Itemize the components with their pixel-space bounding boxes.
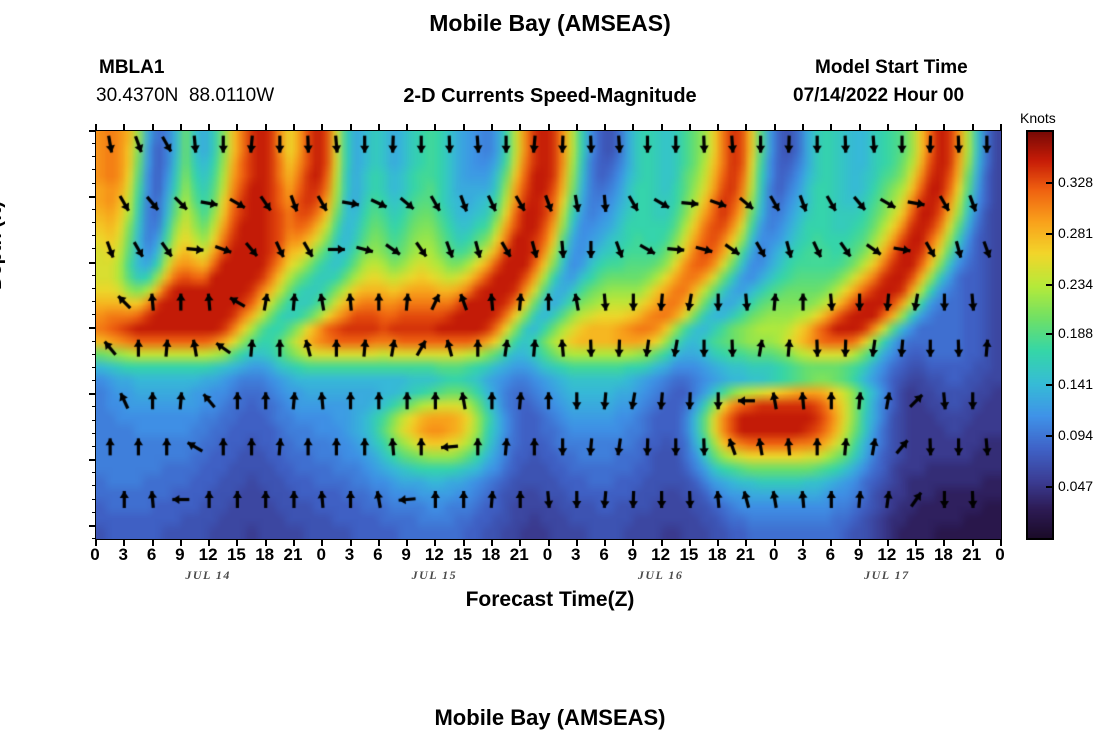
y-axis-minor-tick — [92, 354, 96, 355]
colorbar-tick-label: 0.328 — [1058, 174, 1093, 190]
x-axis-tick-mark — [265, 539, 267, 546]
y-axis-minor-tick — [92, 143, 96, 144]
x-axis-top-tick-mark — [265, 124, 267, 131]
colorbar-tick-label: 0.047 — [1058, 478, 1093, 494]
y-axis-tick-mark — [89, 459, 96, 461]
model-start-time-value: 07/14/2022 Hour 00 — [793, 85, 964, 107]
x-axis-day-label: JUL 14 — [163, 568, 253, 583]
y-axis-minor-tick — [92, 341, 96, 342]
y-axis-minor-tick — [92, 222, 96, 223]
page-footer-title: Mobile Bay (AMSEAS) — [0, 705, 1100, 731]
x-axis-tick-label: 0 — [80, 545, 110, 565]
x-axis-top-tick-mark — [293, 124, 295, 131]
x-axis-tick-mark — [491, 539, 493, 546]
x-axis-top-tick-mark — [378, 124, 380, 131]
x-axis-tick-mark — [236, 539, 238, 546]
x-axis-tick-mark — [802, 539, 804, 546]
colorbar-tick-mark — [1046, 486, 1054, 488]
x-axis-tick-label: 18 — [928, 545, 958, 565]
x-axis-day-label: JUL 16 — [616, 568, 706, 583]
x-axis-tick-label: 3 — [335, 545, 365, 565]
y-axis-minor-tick — [92, 499, 96, 500]
x-axis-tick-mark — [943, 539, 945, 546]
x-axis-tick-label: 15 — [221, 545, 251, 565]
y-axis-minor-tick — [92, 169, 96, 170]
x-axis-tick-mark — [661, 539, 663, 546]
x-axis-top-tick-mark — [491, 124, 493, 131]
y-axis-minor-tick — [92, 235, 96, 236]
colorbar: 0.0470.0940.1410.1880.2340.2810.328 — [1026, 130, 1096, 540]
x-axis-top-tick-mark — [689, 124, 691, 131]
y-axis-title: Depth (ft) — [0, 201, 7, 290]
x-axis-top-tick-mark — [661, 124, 663, 131]
y-axis-tick-mark — [89, 525, 96, 527]
colorbar-tick-mark — [1046, 384, 1054, 386]
x-axis-top-tick-mark — [943, 124, 945, 131]
x-axis-tick-mark — [830, 539, 832, 546]
x-axis-tick-label: 18 — [250, 545, 280, 565]
x-axis-tick-mark — [604, 539, 606, 546]
x-axis-tick-mark — [95, 539, 97, 546]
x-axis-top-tick-mark — [632, 124, 634, 131]
x-axis-top-tick-mark — [972, 124, 974, 131]
x-axis-top-tick-mark — [915, 124, 917, 131]
x-axis-top-tick-mark — [95, 124, 97, 131]
x-axis-tick-mark — [887, 539, 889, 546]
colorbar-tick-label: 0.234 — [1058, 276, 1093, 292]
colorbar-tick-mark — [1046, 435, 1054, 437]
x-axis-top-tick-mark — [830, 124, 832, 131]
x-axis-tick-label: 21 — [278, 545, 308, 565]
chart-page: Mobile Bay (AMSEAS) MBLA1 30.4370N 88.01… — [0, 0, 1100, 750]
x-axis-tick-mark — [293, 539, 295, 546]
x-axis-tick-label: 3 — [787, 545, 817, 565]
x-axis-top-tick-mark — [745, 124, 747, 131]
y-axis-minor-tick — [92, 248, 96, 249]
x-axis-tick-mark — [208, 539, 210, 546]
x-axis-tick-mark — [689, 539, 691, 546]
page-title: Mobile Bay (AMSEAS) — [0, 10, 1100, 37]
y-axis-minor-tick — [92, 314, 96, 315]
x-axis-top-tick-mark — [717, 124, 719, 131]
x-axis-tick-mark — [350, 539, 352, 546]
x-axis-day-label: JUL 17 — [842, 568, 932, 583]
x-axis-top-tick-mark — [1000, 124, 1002, 131]
x-axis-top-tick-mark — [236, 124, 238, 131]
x-axis-tick-label: 18 — [702, 545, 732, 565]
y-axis-minor-tick — [92, 446, 96, 447]
x-axis-day-label: JUL 15 — [389, 568, 479, 583]
x-axis-tick-label: 9 — [165, 545, 195, 565]
y-axis-minor-tick — [92, 485, 96, 486]
x-axis-tick-label: 9 — [844, 545, 874, 565]
x-axis-top-tick-mark — [463, 124, 465, 131]
x-axis-tick-mark — [717, 539, 719, 546]
x-axis-top-tick-mark — [434, 124, 436, 131]
x-axis-tick-label: 6 — [589, 545, 619, 565]
x-axis-tick-mark — [123, 539, 125, 546]
x-axis-tick-label: 12 — [646, 545, 676, 565]
plot-area — [95, 130, 1002, 540]
x-axis-top-tick-mark — [350, 124, 352, 131]
y-axis-tick-mark — [89, 196, 96, 198]
colorbar-tick-mark — [1046, 182, 1054, 184]
x-axis-tick-label: 21 — [730, 545, 760, 565]
x-axis-tick-label: 12 — [193, 545, 223, 565]
y-axis-minor-tick — [92, 183, 96, 184]
x-axis-tick-label: 15 — [448, 545, 478, 565]
x-axis-top-tick-mark — [548, 124, 550, 131]
x-axis-tick-mark — [519, 539, 521, 546]
x-axis-tick-label: 15 — [674, 545, 704, 565]
x-axis-tick-label: 6 — [137, 545, 167, 565]
x-axis-tick-label: 21 — [957, 545, 987, 565]
x-axis-tick-label: 9 — [391, 545, 421, 565]
colorbar-tick-mark — [1046, 284, 1054, 286]
y-axis-minor-tick — [92, 512, 96, 513]
x-axis-tick-mark — [774, 539, 776, 546]
x-axis-top-tick-mark — [802, 124, 804, 131]
y-axis-minor-tick — [92, 380, 96, 381]
x-axis-top-tick-mark — [604, 124, 606, 131]
x-axis-top-tick-mark — [406, 124, 408, 131]
x-axis-tick-label: 3 — [561, 545, 591, 565]
x-axis-tick-mark — [859, 539, 861, 546]
x-axis-tick-label: 0 — [759, 545, 789, 565]
x-axis-tick-label: 9 — [617, 545, 647, 565]
current-vector-arrows — [96, 131, 1001, 539]
y-axis-tick-mark — [89, 262, 96, 264]
x-axis-tick-mark — [576, 539, 578, 546]
x-axis-tick-mark — [463, 539, 465, 546]
x-axis-tick-label: 15 — [900, 545, 930, 565]
y-axis-minor-tick — [92, 209, 96, 210]
y-axis-tick-mark — [89, 327, 96, 329]
x-axis-top-tick-mark — [887, 124, 889, 131]
y-axis-minor-tick — [92, 433, 96, 434]
x-axis-tick-mark — [152, 539, 154, 546]
y-axis-minor-tick — [92, 156, 96, 157]
y-axis-minor-tick — [92, 406, 96, 407]
x-axis-top-tick-mark — [859, 124, 861, 131]
model-start-time-label: Model Start Time — [815, 57, 968, 79]
y-axis-minor-tick — [92, 288, 96, 289]
x-axis-tick-mark — [632, 539, 634, 546]
x-axis-tick-label: 0 — [985, 545, 1015, 565]
colorbar-tick-label: 0.141 — [1058, 376, 1093, 392]
x-axis-tick-label: 12 — [872, 545, 902, 565]
station-id-label: MBLA1 — [99, 57, 164, 79]
y-axis-tick-mark — [89, 393, 96, 395]
colorbar-tick-label: 0.188 — [1058, 325, 1093, 341]
colorbar-tick-label: 0.094 — [1058, 427, 1093, 443]
x-axis-tick-mark — [321, 539, 323, 546]
x-axis-tick-label: 21 — [504, 545, 534, 565]
colorbar-tick-mark — [1046, 333, 1054, 335]
x-axis-tick-mark — [915, 539, 917, 546]
x-axis-tick-mark — [180, 539, 182, 546]
colorbar-title: Knots — [1020, 110, 1056, 126]
x-axis-top-tick-mark — [321, 124, 323, 131]
colorbar-tick-label: 0.281 — [1058, 225, 1093, 241]
x-axis-tick-label: 12 — [419, 545, 449, 565]
y-axis-minor-tick — [92, 275, 96, 276]
x-axis-tick-mark — [745, 539, 747, 546]
x-axis-tick-label: 6 — [815, 545, 845, 565]
x-axis-top-tick-mark — [152, 124, 154, 131]
y-axis-minor-tick — [92, 367, 96, 368]
x-axis-tick-mark — [378, 539, 380, 546]
y-axis-minor-tick — [92, 301, 96, 302]
colorbar-tick-mark — [1046, 233, 1054, 235]
x-axis-top-tick-mark — [576, 124, 578, 131]
x-axis-top-tick-mark — [208, 124, 210, 131]
x-axis-tick-mark — [434, 539, 436, 546]
x-axis-tick-mark — [1000, 539, 1002, 546]
x-axis-tick-mark — [972, 539, 974, 546]
x-axis-tick-label: 0 — [306, 545, 336, 565]
y-axis-minor-tick — [92, 420, 96, 421]
y-axis-minor-tick — [92, 472, 96, 473]
x-axis-tick-mark — [548, 539, 550, 546]
x-axis-top-tick-mark — [519, 124, 521, 131]
x-axis-tick-label: 0 — [533, 545, 563, 565]
x-axis-tick-mark — [406, 539, 408, 546]
x-axis-top-tick-mark — [774, 124, 776, 131]
x-axis-tick-label: 18 — [476, 545, 506, 565]
x-axis-top-tick-mark — [123, 124, 125, 131]
x-axis-tick-label: 3 — [108, 545, 138, 565]
x-axis-title: Forecast Time(Z) — [0, 588, 1100, 612]
x-axis-top-tick-mark — [180, 124, 182, 131]
x-axis-tick-label: 6 — [363, 545, 393, 565]
